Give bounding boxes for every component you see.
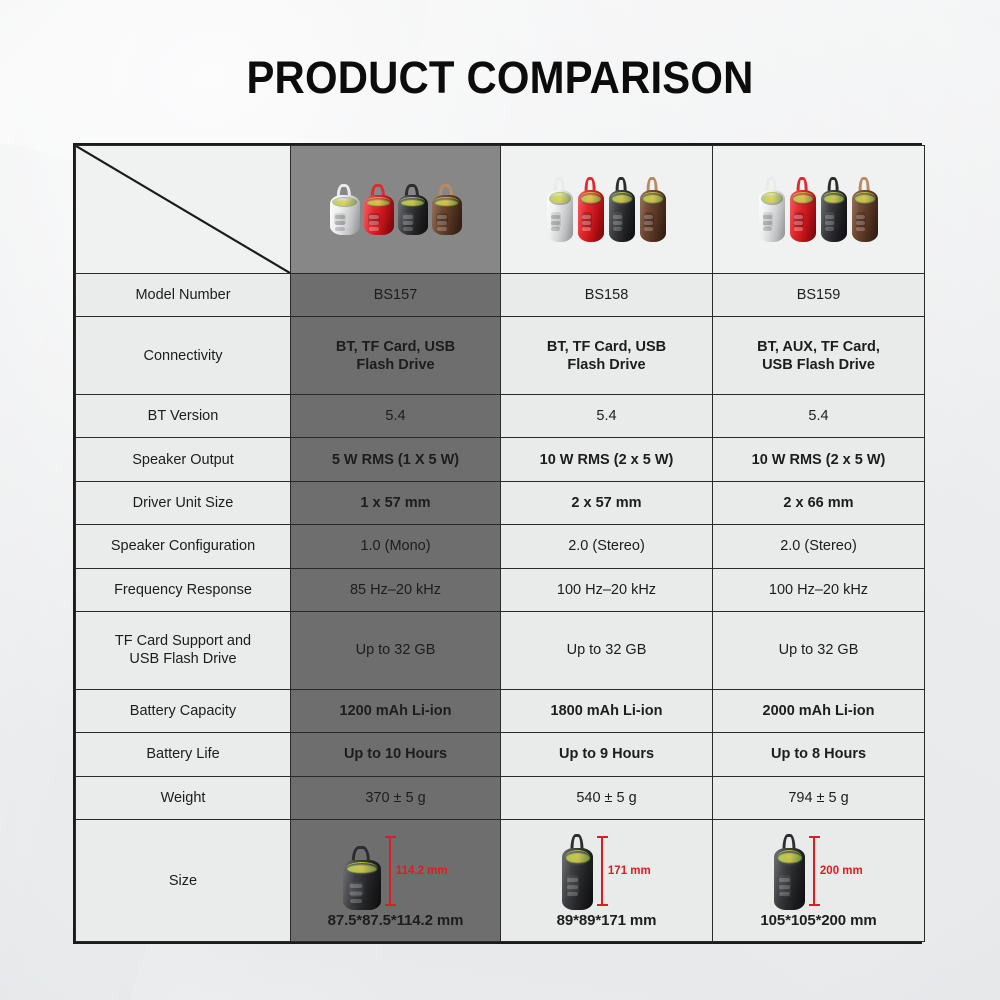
size-cell-bs157: 114.2 mm87.5*87.5*114.2 mm [291,820,501,942]
cell-bs159: Up to 8 Hours [713,733,925,776]
cell-bs157: 85 Hz–20 kHz [291,568,501,611]
speaker-shading [774,848,805,909]
cell-bs158: Up to 32 GB [501,612,713,689]
diagonal-divider-icon [76,146,290,273]
cell-bs158: BS158 [501,274,713,317]
speaker-figure-brown [640,177,666,241]
size-figure: 200 mm [774,832,863,910]
cell-bs158: 2 x 57 mm [501,481,713,524]
dimension-bracket: 171 mm [601,832,651,910]
row-label: Battery Capacity [76,689,291,732]
table-header-row [76,146,925,274]
size-cell-content: 171 mm89*89*171 mm [507,822,706,939]
cell-bs157: Up to 10 Hours [291,733,501,776]
cell-bs157: 1200 mAh Li-ion [291,689,501,732]
cell-bs159: 10 W RMS (2 x 5 W) [713,438,925,481]
speaker-shading [609,190,635,242]
size-caption: 105*105*200 mm [760,912,876,930]
speaker-shading [364,195,394,235]
table-row: Battery LifeUp to 10 HoursUp to 9 HoursU… [76,733,925,776]
dimension-label: 171 mm [608,862,651,880]
speaker-body [578,190,604,242]
row-label: Frequency Response [76,568,291,611]
speaker-shading [432,195,462,235]
size-cell-content: 200 mm105*105*200 mm [719,822,918,939]
speaker-figure-white [547,177,573,241]
dimension-bracket-bar-icon [601,836,603,906]
cell-bs157: Up to 32 GB [291,612,501,689]
cell-bs158: 100 Hz–20 kHz [501,568,713,611]
comparison-table: Model NumberBS157BS158BS159ConnectivityB… [75,145,925,942]
speaker-figure-white [330,184,360,235]
dimension-bracket: 200 mm [813,832,863,910]
speaker-shading [547,190,573,242]
row-label: Size [76,820,291,942]
cell-bs158: 10 W RMS (2 x 5 W) [501,438,713,481]
row-label: Driver Unit Size [76,481,291,524]
cell-bs158: 5.4 [501,394,713,437]
speaker-figure-red [790,177,816,241]
cell-bs157: 370 ± 5 g [291,776,501,819]
size-cell-bs158: 171 mm89*89*171 mm [501,820,713,942]
speaker-shading [821,190,847,242]
size-cell-bs159: 200 mm105*105*200 mm [713,820,925,942]
cell-bs159: Up to 32 GB [713,612,925,689]
comparison-table-container: Model NumberBS157BS158BS159ConnectivityB… [73,143,922,944]
table-row: Frequency Response85 Hz–20 kHz100 Hz–20 … [76,568,925,611]
speaker-body [547,190,573,242]
speaker-body [609,190,635,242]
speaker-body [343,860,381,910]
cell-bs159: BT, AUX, TF Card,USB Flash Drive [713,317,925,394]
speaker-body [562,848,593,909]
table-row: TF Card Support andUSB Flash DriveUp to … [76,612,925,689]
cell-bs159: 2.0 (Stereo) [713,525,925,568]
speaker-body [852,190,878,242]
speaker-shading [330,195,360,235]
cell-bs157: 5 W RMS (1 X 5 W) [291,438,501,481]
cell-bs159: 794 ± 5 g [713,776,925,819]
cell-bs157: BT, TF Card, USBFlash Drive [291,317,501,394]
speaker-figure-black [343,846,381,910]
row-label: Connectivity [76,317,291,394]
size-caption: 87.5*87.5*114.2 mm [328,912,464,930]
cell-bs158: Up to 9 Hours [501,733,713,776]
table-row: Speaker Configuration1.0 (Mono)2.0 (Ster… [76,525,925,568]
cell-bs157: 5.4 [291,394,501,437]
table-row-size: Size114.2 mm87.5*87.5*114.2 mm171 mm89*8… [76,820,925,942]
speaker-body [398,195,428,235]
speaker-shading [852,190,878,242]
cell-bs157: 1.0 (Mono) [291,525,501,568]
speaker-figure-black [398,184,428,235]
size-figure: 171 mm [562,832,651,910]
table-row: Driver Unit Size1 x 57 mm2 x 57 mm2 x 66… [76,481,925,524]
speaker-shading [578,190,604,242]
speaker-figure-brown [852,177,878,241]
cell-bs158: BT, TF Card, USBFlash Drive [501,317,713,394]
speaker-shading [398,195,428,235]
dimension-label: 200 mm [820,862,863,880]
row-label: BT Version [76,394,291,437]
product-header-bs157[interactable] [291,146,501,274]
size-figure: 114.2 mm [343,832,447,910]
size-cell-content: 114.2 mm87.5*87.5*114.2 mm [297,822,494,939]
table-corner-cell [76,146,291,274]
cell-bs158: 540 ± 5 g [501,776,713,819]
speaker-body [364,195,394,235]
dimension-bracket-bar-icon [813,836,815,906]
row-label: TF Card Support andUSB Flash Drive [76,612,291,689]
speaker-body [774,848,805,909]
speaker-figure-black [774,834,805,910]
table-row: Weight370 ± 5 g540 ± 5 g794 ± 5 g [76,776,925,819]
product-image-group [713,146,924,273]
product-image-group [291,146,500,273]
cell-bs159: 2 x 66 mm [713,481,925,524]
speaker-body [640,190,666,242]
speaker-shading [562,848,593,909]
speaker-figure-black [821,177,847,241]
page-title: PRODUCT COMPARISON [35,52,965,104]
row-label: Model Number [76,274,291,317]
speaker-body [432,195,462,235]
speaker-figure-black [562,834,593,910]
speaker-figure-white [759,177,785,241]
speaker-shading [790,190,816,242]
speaker-shading [343,860,381,910]
speaker-body [330,195,360,235]
row-label: Battery Life [76,733,291,776]
dimension-label: 114.2 mm [396,862,448,880]
table-row: Speaker Output5 W RMS (1 X 5 W)10 W RMS … [76,438,925,481]
speaker-body [821,190,847,242]
table-row: BT Version5.45.45.4 [76,394,925,437]
dimension-bracket-bar-icon [389,836,391,906]
speaker-shading [759,190,785,242]
cell-bs159: 100 Hz–20 kHz [713,568,925,611]
speaker-body [790,190,816,242]
table-row: Battery Capacity1200 mAh Li-ion1800 mAh … [76,689,925,732]
row-label: Speaker Output [76,438,291,481]
row-label: Weight [76,776,291,819]
table-row: ConnectivityBT, TF Card, USBFlash DriveB… [76,317,925,394]
speaker-figure-red [578,177,604,241]
product-header-bs159[interactable] [713,146,925,274]
product-image-group [501,146,712,273]
speaker-body [759,190,785,242]
row-label: Speaker Configuration [76,525,291,568]
cell-bs157: 1 x 57 mm [291,481,501,524]
size-caption: 89*89*171 mm [557,912,657,930]
speaker-figure-black [609,177,635,241]
cell-bs159: 2000 mAh Li-ion [713,689,925,732]
cell-bs159: BS159 [713,274,925,317]
dimension-bracket: 114.2 mm [389,832,448,910]
cell-bs158: 1800 mAh Li-ion [501,689,713,732]
speaker-figure-brown [432,184,462,235]
table-row: Model NumberBS157BS158BS159 [76,274,925,317]
cell-bs157: BS157 [291,274,501,317]
speaker-shading [640,190,666,242]
cell-bs158: 2.0 (Stereo) [501,525,713,568]
product-header-bs158[interactable] [501,146,713,274]
cell-bs159: 5.4 [713,394,925,437]
speaker-figure-red [364,184,394,235]
